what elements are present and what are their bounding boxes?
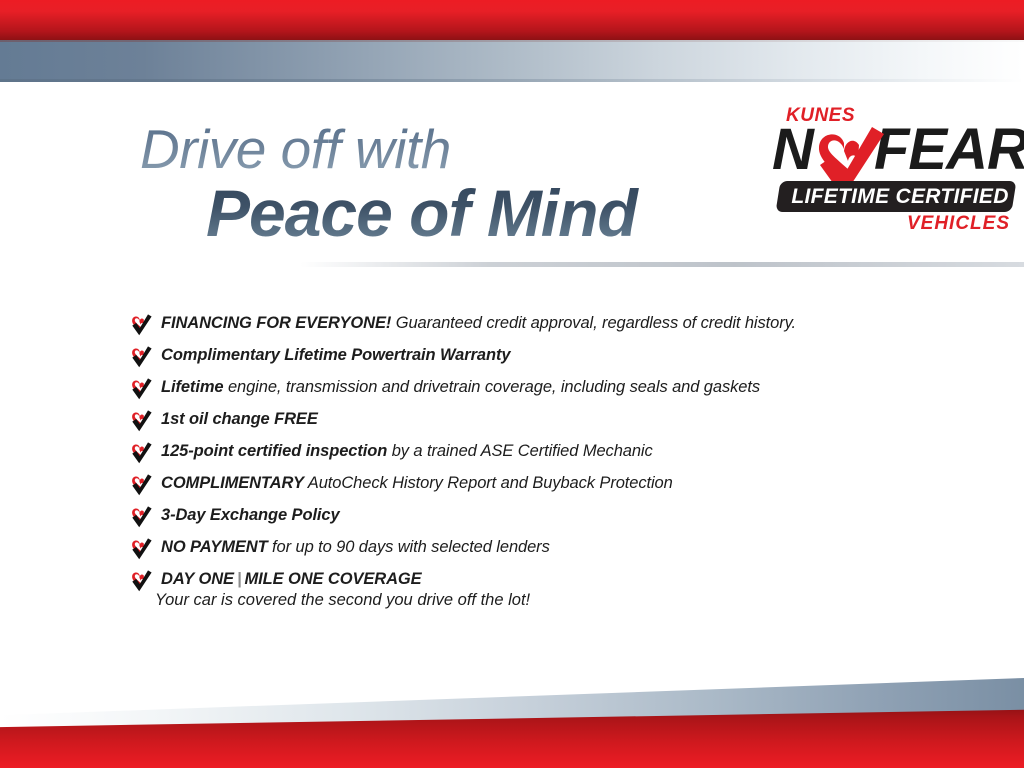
benefit-row: Lifetime engine, transmission and drivet… (131, 374, 951, 406)
logo-vehicles-text: VEHICLES (907, 213, 1010, 235)
benefit-bold-text: Complimentary Lifetime Powertrain Warran… (161, 346, 510, 364)
heart-check-icon (131, 570, 155, 592)
benefit-bold-text: Lifetime (161, 378, 223, 396)
benefit-detail-text: for up to 90 days with selected lenders (268, 538, 550, 556)
benefit-row: FINANCING FOR EVERYONE! Guaranteed credi… (131, 310, 951, 342)
headline-block: Drive off with Peace of Mind (140, 122, 740, 248)
logo-lifetime-certified-text: LIFETIME CERTIFIED (784, 182, 1016, 212)
heart-check-icon (131, 346, 155, 368)
top-red-band (0, 0, 1024, 40)
heart-check-icon (131, 538, 155, 560)
benefit-detail-text: AutoCheck History Report and Buyback Pro… (304, 474, 673, 492)
benefit-text: NO PAYMENT for up to 90 days with select… (161, 534, 951, 560)
benefit-detail-text: Guaranteed credit approval, regardless o… (391, 314, 796, 332)
benefit-text: 125-point certified inspection by a trai… (161, 438, 951, 464)
benefit-text: 1st oil change FREE (161, 406, 951, 432)
benefit-row: COMPLIMENTARY AutoCheck History Report a… (131, 470, 951, 502)
benefit-bold-text: COMPLIMENTARY (161, 474, 304, 492)
heart-check-icon (131, 378, 155, 400)
section-divider (300, 262, 1024, 267)
benefit-row: 3-Day Exchange Policy (131, 502, 951, 534)
benefit-row: 1st oil change FREE (131, 406, 951, 438)
logo-wordmark: N FEAR (770, 123, 1014, 185)
heart-check-icon (131, 474, 155, 496)
benefit-bold-text: NO PAYMENT (161, 538, 268, 556)
benefit-text: Lifetime engine, transmission and drivet… (161, 374, 951, 400)
benefit-text: Complimentary Lifetime Powertrain Warran… (161, 342, 951, 368)
benefit-text: 3-Day Exchange Policy (161, 502, 951, 528)
benefit-row: NO PAYMENT for up to 90 days with select… (131, 534, 951, 566)
logo-text-fear: FEAR (874, 121, 1024, 179)
headline-line-2: Peace of Mind (206, 179, 740, 248)
heart-check-icon (131, 314, 155, 336)
benefit-bold-text: 1st oil change FREE (161, 410, 318, 428)
benefit-bold-text: 125-point certified inspection (161, 442, 387, 460)
benefit-separator: | (234, 570, 245, 588)
benefit-bold-text: FINANCING FOR EVERYONE! (161, 314, 391, 332)
benefit-text: COMPLIMENTARY AutoCheck History Report a… (161, 470, 951, 496)
benefit-row: DAY ONE|MILE ONE COVERAGEYour car is cov… (131, 566, 951, 600)
heart-check-icon (131, 506, 155, 528)
benefits-list: FINANCING FOR EVERYONE! Guaranteed credi… (131, 310, 951, 600)
benefit-row: 125-point certified inspection by a trai… (131, 438, 951, 470)
benefit-bold-text: 3-Day Exchange Policy (161, 506, 340, 524)
benefit-detail-text: by a trained ASE Certified Mechanic (387, 442, 652, 460)
top-silver-band (0, 40, 1024, 82)
heart-check-icon (131, 410, 155, 432)
heart-check-icon (131, 442, 155, 464)
kunes-no-fear-logo: KUNES N FEAR LIFETIME CERTIFIED VEHICLES (770, 105, 1014, 245)
logo-letter-n: N (772, 121, 812, 179)
headline-line-1: Drive off with (140, 122, 740, 177)
benefit-text: FINANCING FOR EVERYONE! Guaranteed credi… (161, 310, 951, 336)
benefit-bold-text-2: MILE ONE COVERAGE (245, 570, 422, 588)
benefit-row: Complimentary Lifetime Powertrain Warran… (131, 342, 951, 374)
benefit-detail-text: engine, transmission and drivetrain cove… (223, 378, 760, 396)
benefit-subtext: Your car is covered the second you drive… (155, 588, 951, 612)
benefit-bold-text: DAY ONE (161, 570, 234, 588)
promo-poster: Drive off with Peace of Mind KUNES N FEA… (0, 0, 1024, 768)
bottom-band-group (0, 678, 1024, 768)
